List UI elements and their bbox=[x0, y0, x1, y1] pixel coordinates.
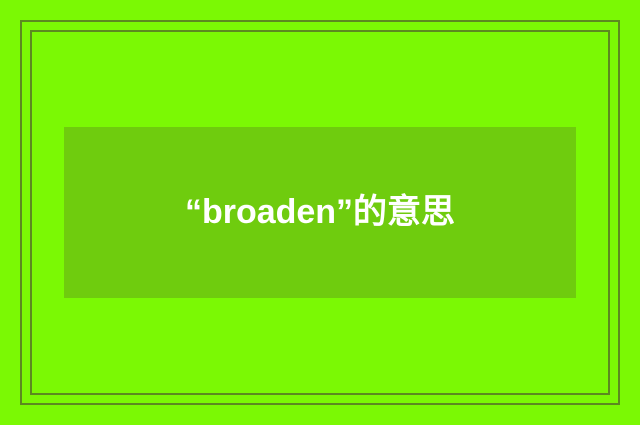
content-panel: “broaden”的意思 bbox=[64, 127, 576, 298]
headline-text: “broaden”的意思 bbox=[170, 185, 470, 240]
graphic-card: “broaden”的意思 bbox=[0, 0, 640, 425]
